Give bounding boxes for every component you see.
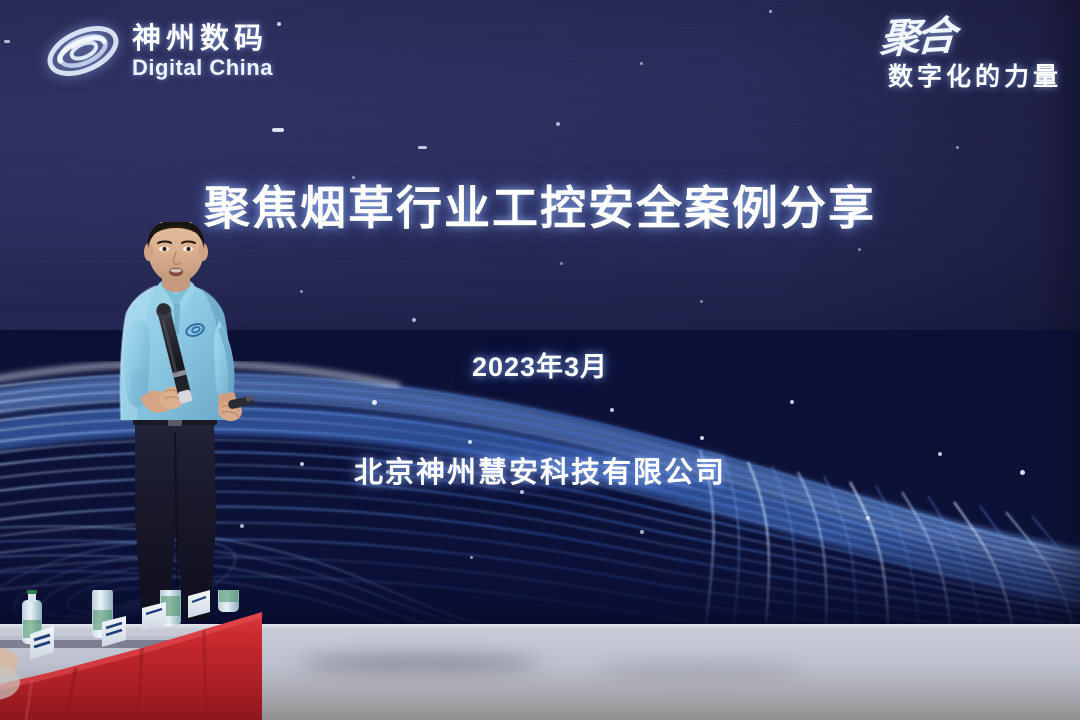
conference-stage-photo: 神州数码 Digital China 聚合 数字化的力量 聚焦烟草行业工控安全案… <box>0 0 1080 720</box>
name-placard <box>142 602 166 631</box>
brand-name-cn: 神州数码 <box>132 23 273 55</box>
digital-china-logo: 神州数码 Digital China <box>44 20 273 82</box>
speaker-presenter <box>88 222 278 624</box>
event-subtitle: 数字化的力量 <box>880 62 1062 92</box>
digital-china-swirl-icon <box>44 20 122 82</box>
screen-right-edge-shade <box>1040 0 1080 624</box>
name-placard <box>188 590 210 618</box>
particle-dot <box>300 290 303 293</box>
head-table-foreground <box>0 590 262 720</box>
digital-china-wordmark: 神州数码 Digital China <box>132 23 273 80</box>
particle-dot <box>560 262 563 265</box>
floor-shadow <box>300 654 540 672</box>
event-logo: 聚合 数字化的力量 <box>880 16 1062 92</box>
brand-name-en: Digital China <box>132 55 273 80</box>
particle-dot <box>412 318 416 322</box>
water-bottle <box>218 590 239 612</box>
floor-shadow <box>600 664 800 678</box>
event-calligraphy: 聚合 <box>879 14 954 62</box>
